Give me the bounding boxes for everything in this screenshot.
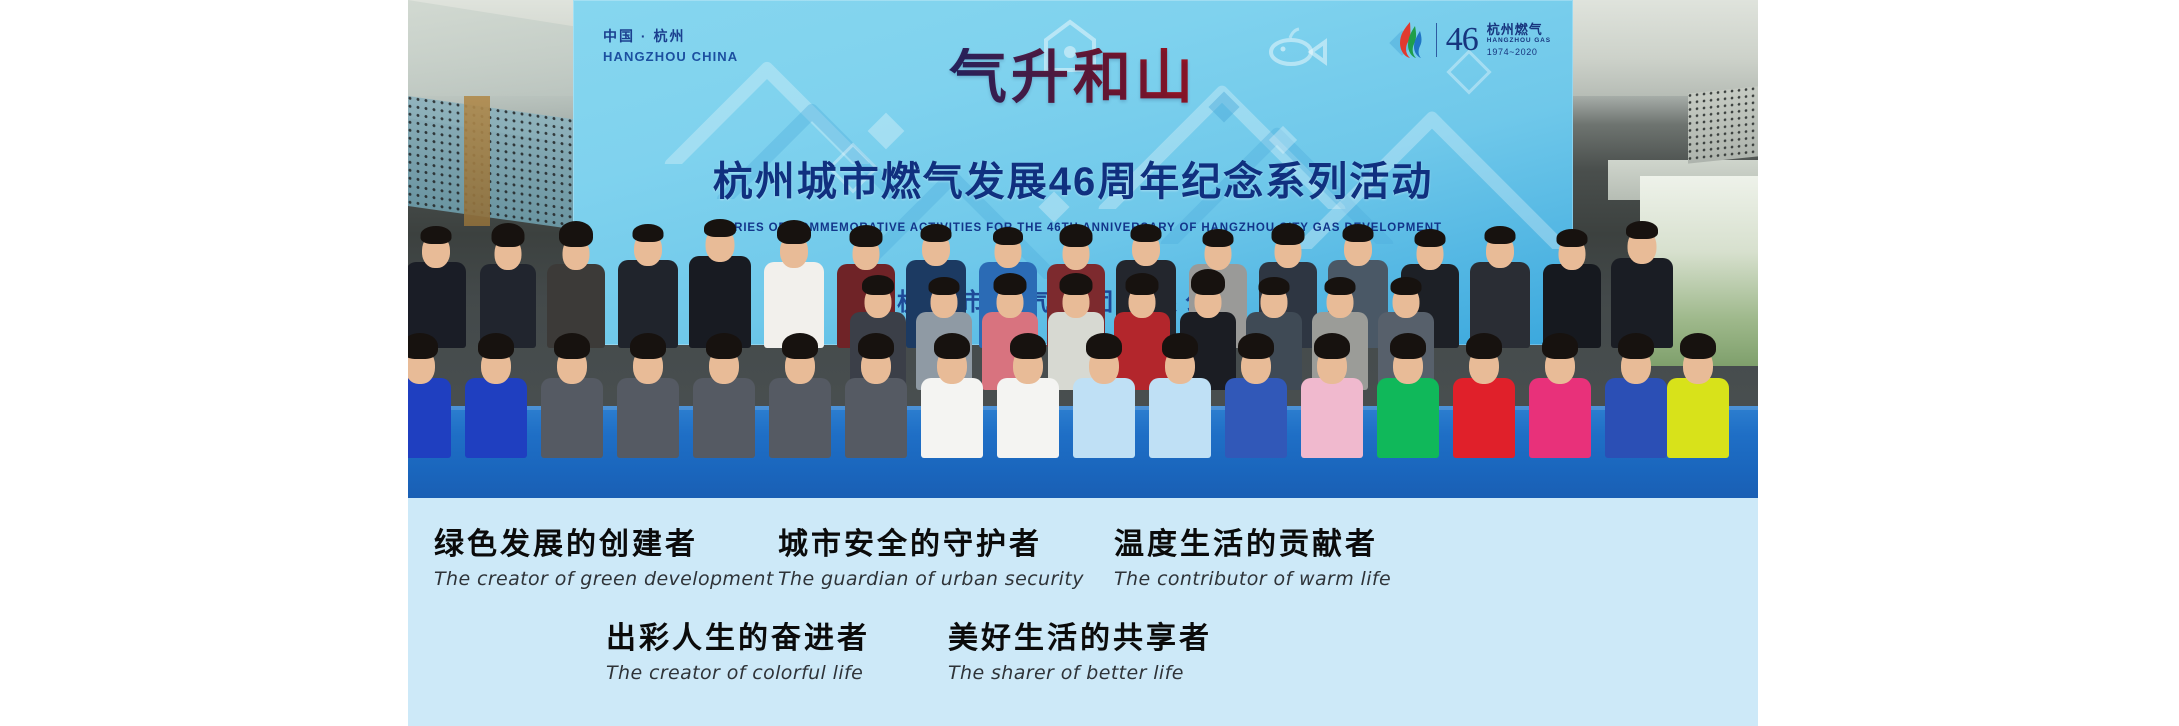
location-label-cn: 中国 · 杭州: [603, 28, 738, 46]
slogan-green-development: 绿色发展的创建者 The creator of green developmen…: [434, 528, 774, 590]
slogan-cn: 出彩人生的奋进者: [606, 622, 870, 655]
slogan-warm-life: 温度生活的贡献者 The contributor of warm life: [1114, 528, 1391, 590]
slogan-better-life: 美好生活的共享者 The sharer of better life: [948, 622, 1212, 684]
logo-company-en: HANGZHOU GAS: [1487, 37, 1551, 45]
logo-company-cn: 杭州燃气: [1487, 22, 1551, 38]
slogan-en: The creator of green development: [434, 568, 774, 590]
slogan-urban-security: 城市安全的守护者 The guardian of urban security: [778, 528, 1084, 590]
slogan-en: The creator of colorful life: [606, 662, 870, 684]
slogan-colorful-life: 出彩人生的奋进者 The creator of colorful life: [606, 622, 870, 684]
group-photo: 中国 · 杭州 HANGZHOU CHINA 46 杭州燃气 HANGZHOU …: [408, 0, 1758, 498]
slogan-en: The contributor of warm life: [1114, 568, 1391, 590]
slogan-panel: 绿色发展的创建者 The creator of green developmen…: [408, 498, 1758, 726]
slogan-cn: 温度生活的贡献者: [1114, 528, 1391, 561]
poster-page: 中国 · 杭州 HANGZHOU CHINA 46 杭州燃气 HANGZHOU …: [0, 0, 2179, 726]
slogan-cn: 绿色发展的创建者: [434, 528, 774, 561]
slogan-en: The sharer of better life: [948, 662, 1212, 684]
slogan-cn: 城市安全的守护者: [778, 528, 1084, 561]
artistic-wordmark: 气升和山: [573, 48, 1573, 106]
diamond-motif: [868, 113, 905, 150]
slogan-cn: 美好生活的共享者: [948, 622, 1212, 655]
content-column: 中国 · 杭州 HANGZHOU CHINA 46 杭州燃气 HANGZHOU …: [408, 0, 1758, 726]
slogan-en: The guardian of urban security: [778, 568, 1084, 590]
